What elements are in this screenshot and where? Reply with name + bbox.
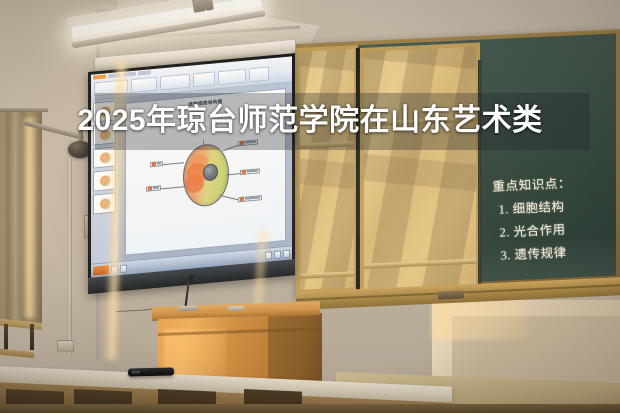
panel-frame <box>296 45 358 296</box>
ppt-ribbon-group[interactable] <box>94 79 128 96</box>
panel-gap <box>478 60 482 298</box>
microphone-base <box>178 306 198 312</box>
tray-icon[interactable] <box>283 249 290 258</box>
tray-icon[interactable] <box>265 251 272 260</box>
ppt-ribbon-group[interactable] <box>160 74 190 91</box>
start-button-icon[interactable] <box>93 265 109 275</box>
ppt-ribbon-group[interactable] <box>193 71 215 87</box>
ppt-ribbon-group[interactable] <box>131 77 157 93</box>
step-leg <box>30 324 34 350</box>
blackboard-slide-panel-right[interactable] <box>360 43 480 296</box>
callout-label <box>146 185 161 191</box>
callout-line <box>160 186 184 189</box>
step-leg <box>4 324 8 350</box>
callout-label <box>238 195 262 202</box>
light-socket <box>204 0 214 11</box>
projection-surface: 植物细胞结构图 <box>91 56 292 277</box>
ppt-tab[interactable] <box>123 72 136 77</box>
blackboard-eraser-icon <box>438 290 464 299</box>
ppt-slide-thumbnail[interactable] <box>93 192 116 214</box>
podium-plate <box>228 306 244 312</box>
ppt-tab[interactable] <box>108 73 121 78</box>
ppt-ribbon-group[interactable] <box>249 67 269 83</box>
cell-diagram <box>176 135 236 214</box>
overlay-headline: 2025年琼台师范学院在山东艺术类 <box>0 97 620 145</box>
wall-conduit <box>67 158 72 354</box>
cell-nucleus <box>203 163 218 181</box>
ppt-tab[interactable] <box>138 70 151 75</box>
taskbar-app-icon[interactable] <box>120 264 127 273</box>
panel-frame <box>360 43 480 296</box>
wall-outlet <box>57 340 74 352</box>
tray-icon[interactable] <box>274 250 281 259</box>
classroom-photo: 重点知识点： 1. 细胞结构 2. 光合作用 3. 遗传规律 <box>0 0 620 413</box>
remote-control-icon[interactable] <box>128 367 174 376</box>
callout-line <box>162 162 184 165</box>
projection-screen: 植物细胞结构图 <box>88 53 295 294</box>
ppt-ribbon-group[interactable] <box>218 69 246 86</box>
blackboard-slide-panel-left[interactable] <box>296 45 358 296</box>
floor <box>0 404 620 413</box>
callout-label <box>150 161 163 167</box>
ppt-tab-active[interactable] <box>93 74 106 79</box>
taskbar-app-icon[interactable] <box>111 265 118 274</box>
ppt-slide-thumbnail[interactable] <box>93 146 116 168</box>
curtain-light-glow <box>22 118 36 318</box>
sunlight-patch <box>432 300 528 340</box>
callout-label <box>240 168 260 175</box>
ppt-slide-thumbnail[interactable] <box>93 169 116 191</box>
